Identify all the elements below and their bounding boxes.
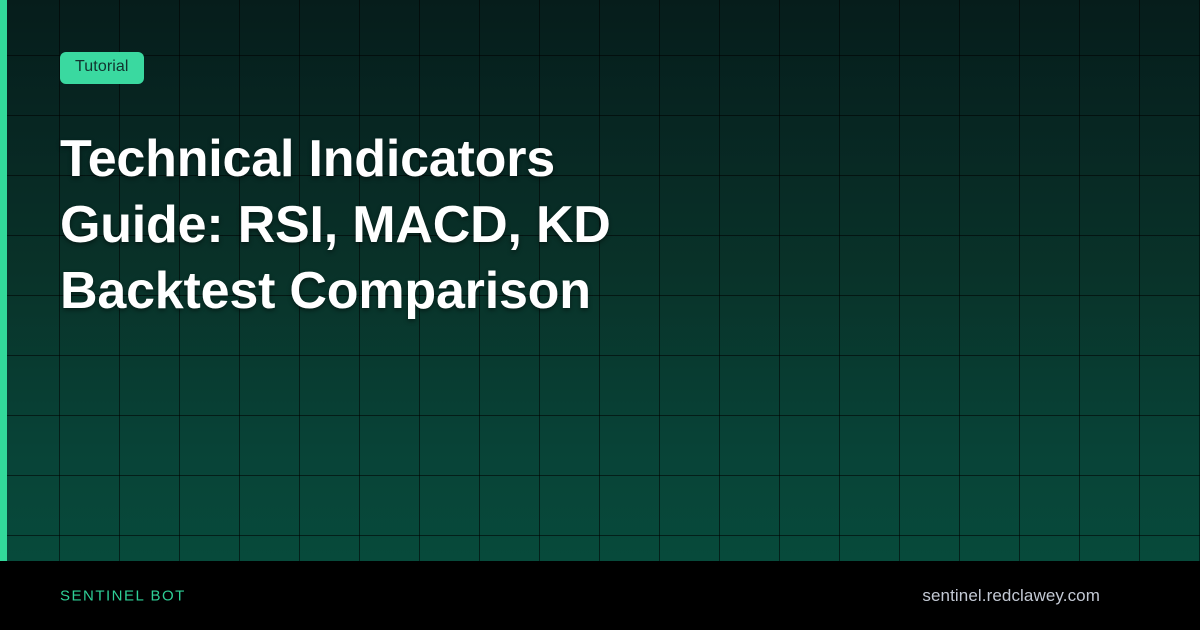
footer-bar: SENTINEL BOT sentinel.redclawey.com [0,561,1200,630]
site-url: sentinel.redclawey.com [922,586,1100,606]
left-accent-bar [0,0,7,561]
hero-content: Tutorial Technical Indicators Guide: RSI… [60,52,860,324]
category-badge: Tutorial [60,52,144,84]
hero-banner: Tutorial Technical Indicators Guide: RSI… [0,0,1200,561]
open-graph-card: Tutorial Technical Indicators Guide: RSI… [0,0,1200,630]
brand-name: SENTINEL BOT [60,587,186,604]
page-title: Technical Indicators Guide: RSI, MACD, K… [60,126,620,324]
